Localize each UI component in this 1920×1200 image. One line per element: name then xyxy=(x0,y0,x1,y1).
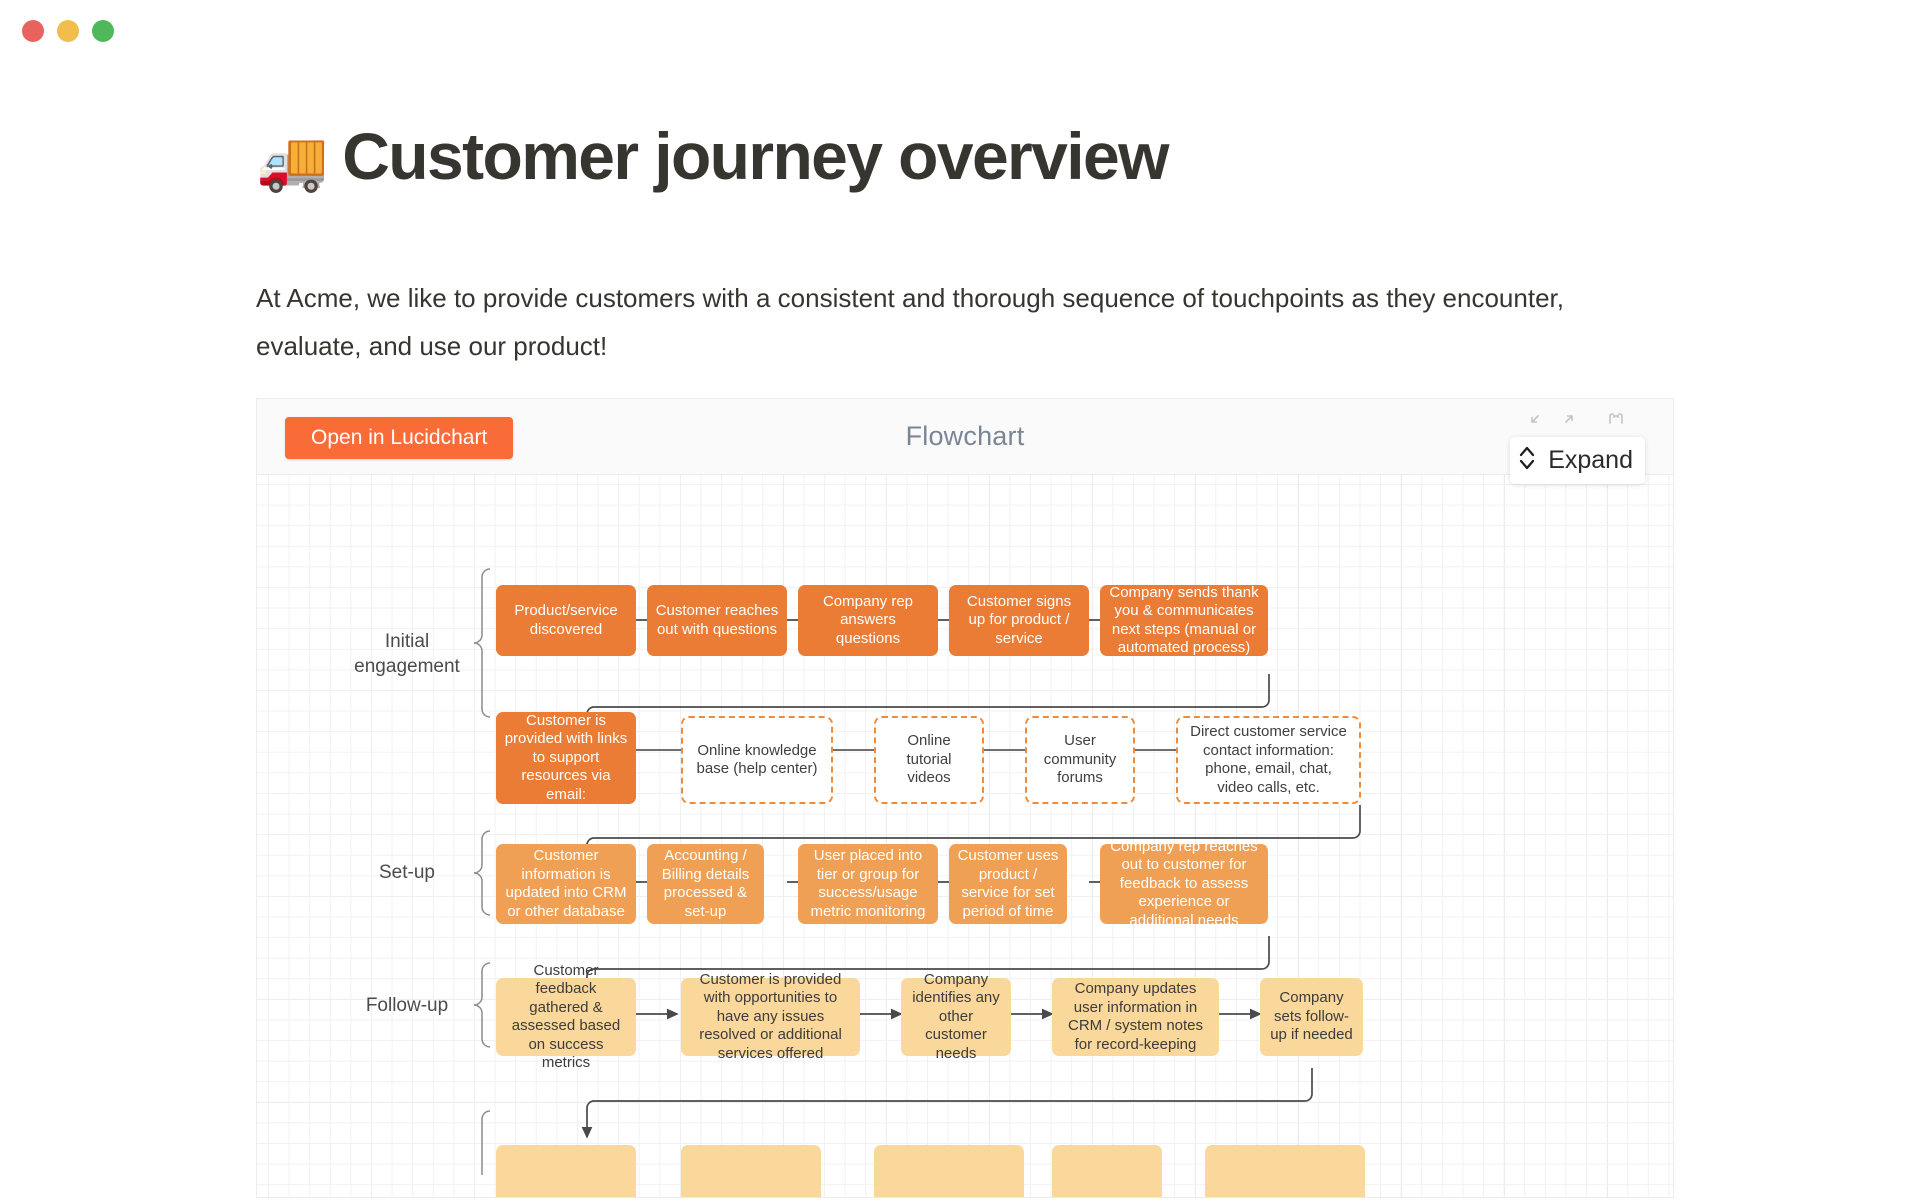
close-window-button[interactable] xyxy=(22,20,44,42)
lane-label-line1: Initial xyxy=(347,629,467,654)
flow-node-r4c3[interactable]: Company identifies any other customer ne… xyxy=(901,978,1011,1056)
flow-node-r4c4[interactable]: Company updates user information in CRM … xyxy=(1052,978,1219,1056)
flowchart-canvas[interactable]: Initial engagement Set-up Follow-up Prod… xyxy=(257,475,1673,1198)
page-subtitle: At Acme, we like to provide customers wi… xyxy=(256,274,1656,370)
flow-node-r1c2[interactable]: Customer reaches out with questions xyxy=(647,585,787,656)
open-in-lucidchart-button[interactable]: Open in Lucidchart xyxy=(285,417,513,459)
minimize-window-button[interactable] xyxy=(57,20,79,42)
truck-icon: 🚚 xyxy=(256,129,328,194)
flow-node-r1c5[interactable]: Company sends thank you & communicates n… xyxy=(1100,585,1268,656)
lane-label-line2: engagement xyxy=(347,654,467,679)
flow-node-r1c3[interactable]: Company rep answers questions xyxy=(798,585,938,656)
page-title-text: Customer journey overview xyxy=(342,119,1168,193)
flow-node-r3c5[interactable]: Company rep reaches out to customer for … xyxy=(1100,844,1268,924)
flow-node-r1c1[interactable]: Product/service discovered xyxy=(496,585,636,656)
embed-toolbar: Open in Lucidchart Flowchart Expand xyxy=(257,399,1673,475)
flow-node-r3c4[interactable]: Customer uses product / service for set … xyxy=(949,844,1067,924)
lane-label-followup: Follow-up xyxy=(342,993,472,1018)
flow-node-r4c2[interactable]: Customer is provided with opportunities … xyxy=(681,978,860,1056)
flow-node-r2c5[interactable]: Direct customer service contact informat… xyxy=(1176,716,1361,804)
flow-node-r3c3[interactable]: User placed into tier or group for succe… xyxy=(798,844,938,924)
expand-label: Expand xyxy=(1548,446,1633,475)
embed-window-controls xyxy=(1527,411,1631,427)
expand-arrow-icon[interactable] xyxy=(1561,411,1577,427)
flow-node-r5c1[interactable] xyxy=(496,1145,636,1198)
flow-node-r2c3[interactable]: Online tutorial videos xyxy=(874,716,984,804)
flow-node-r3c2[interactable]: Accounting / Billing details processed &… xyxy=(647,844,764,924)
flow-node-r4c5[interactable]: Company sets follow-up if needed xyxy=(1260,978,1363,1056)
flow-node-r5c3[interactable] xyxy=(874,1145,1024,1198)
flow-node-r5c4[interactable] xyxy=(1052,1145,1162,1198)
lane-label-initial-engagement: Initial engagement xyxy=(347,629,467,679)
window-titlebar xyxy=(0,0,1920,62)
chevron-updown-icon xyxy=(1516,443,1538,478)
flow-node-r1c4[interactable]: Customer signs up for product / service xyxy=(949,585,1089,656)
connector-layer xyxy=(257,475,1673,1198)
expand-button[interactable]: Expand xyxy=(1510,437,1645,484)
flow-node-r2c2[interactable]: Online knowledge base (help center) xyxy=(681,716,833,804)
collapse-arrow-icon[interactable] xyxy=(1527,411,1543,427)
flow-node-r5c5[interactable] xyxy=(1205,1145,1365,1198)
flow-node-r2c1[interactable]: Customer is provided with links to suppo… xyxy=(496,712,636,804)
lucidchart-embed: Open in Lucidchart Flowchart Expand xyxy=(256,398,1674,1198)
document-page: 🚚Customer journey overview At Acme, we l… xyxy=(0,62,1920,1200)
flow-node-r5c2[interactable] xyxy=(681,1145,821,1198)
flow-node-r4c1[interactable]: Customer feedback gathered & assessed ba… xyxy=(496,978,636,1056)
flow-node-r2c4[interactable]: User community forums xyxy=(1025,716,1135,804)
lucid-logo-icon xyxy=(1609,412,1631,426)
maximize-window-button[interactable] xyxy=(92,20,114,42)
lane-label-setup: Set-up xyxy=(347,860,467,885)
page-title: 🚚Customer journey overview xyxy=(256,120,1168,194)
flow-node-r3c1[interactable]: Customer information is updated into CRM… xyxy=(496,844,636,924)
